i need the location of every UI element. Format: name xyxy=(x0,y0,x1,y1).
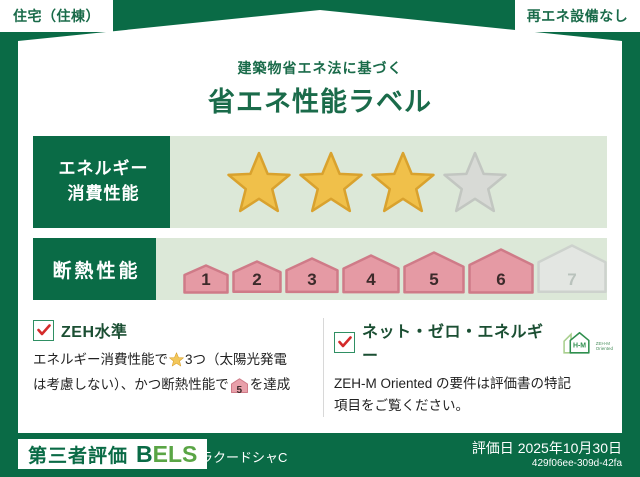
insulation-performance-key: 断熱性能 xyxy=(37,238,156,300)
bels-jp-label: 第三者評価 xyxy=(28,441,128,468)
nzeb-text-line1: ZEH-M Oriented の要件は評価書の特記 xyxy=(334,376,571,391)
bels-badge: 第三者評価 BELS xyxy=(18,439,207,469)
zeh-heading: ZEH水準 xyxy=(33,318,323,342)
document-id: 429f06ee-309d-42fa xyxy=(532,458,622,469)
tag-renewable-energy: 再エネ設備なし xyxy=(515,0,640,32)
star-icon xyxy=(298,151,364,214)
label-title: 省エネ性能ラベル xyxy=(0,80,640,119)
insulation-level-badge: 4 xyxy=(342,254,400,294)
zeh-text-part1: エネルギー消費性能で xyxy=(33,352,168,367)
insulation-level-badge: 5 xyxy=(403,251,465,294)
insulation-level-badge: 2 xyxy=(232,260,282,293)
nzeb-heading: ネット・ゼロ・エネルギー H-M ZEH-M Oriented xyxy=(334,318,613,366)
nzeb-text-line2: 項目をご覧ください。 xyxy=(334,398,469,413)
energy-performance-key-line1: エネルギー xyxy=(59,157,149,182)
checkmark-icon xyxy=(334,332,355,353)
insulation-badge-inline-label: 5 xyxy=(231,383,248,399)
label-subtitle: 建築物省エネ法に基づく xyxy=(0,58,640,78)
nzeb-title: ネット・ゼロ・エネルギー xyxy=(362,318,548,366)
bels-logo-b: B xyxy=(136,441,153,468)
svg-text:H-M: H-M xyxy=(573,342,586,349)
nzeb-description: ZEH-M Oriented の要件は評価書の特記 項目をご覧ください。 xyxy=(334,373,613,417)
insulation-level-badge: 3 xyxy=(285,257,339,293)
tag-building-type-label: 住宅（住棟） xyxy=(13,6,100,26)
insulation-level-label: 4 xyxy=(342,270,400,290)
checkmark-icon xyxy=(33,320,54,341)
insulation-level-scale: 1234567 xyxy=(156,244,607,293)
insulation-level-label: 2 xyxy=(232,270,282,290)
zeh-title: ZEH水準 xyxy=(61,318,128,342)
insulation-performance-row: 断熱性能 1234567 xyxy=(33,238,607,300)
insulation-level-badge: 6 xyxy=(468,248,534,294)
zeh-text-part3: を達成 xyxy=(250,377,291,392)
insulation-level-label: 7 xyxy=(537,270,607,290)
energy-performance-label: 住宅（住棟） 再エネ設備なし 建築物省エネ法に基づく 省エネ性能ラベル エネルギ… xyxy=(0,0,640,477)
zeh-text-star-count: 3つ（太陽光発電 xyxy=(185,352,287,367)
star-icon xyxy=(226,151,292,214)
insulation-level-label: 1 xyxy=(183,270,229,290)
energy-performance-value xyxy=(170,136,607,228)
insulation-performance-key-label: 断熱性能 xyxy=(52,256,140,283)
nzeb-criteria-block: ネット・ゼロ・エネルギー H-M ZEH-M Oriented ZEH-M Or… xyxy=(323,318,613,417)
star-rating xyxy=(170,151,508,214)
insulation-performance-value: 1234567 xyxy=(156,238,607,300)
energy-performance-row: エネルギー 消費性能 xyxy=(33,136,607,228)
bels-logo-els: ELS xyxy=(153,441,198,468)
star-icon xyxy=(442,151,508,214)
insulation-level-label: 5 xyxy=(403,270,465,290)
star-icon xyxy=(370,151,436,214)
zeh-m-oriented-logo: H-M ZEH-M Oriented xyxy=(561,329,613,355)
insulation-level-label: 3 xyxy=(285,270,339,290)
tag-renewable-energy-label: 再エネ設備なし xyxy=(527,6,629,26)
criteria-columns: ZEH水準 エネルギー消費性能で3つ（太陽光発電 は考慮しない）、かつ断熱性能で… xyxy=(33,318,613,417)
insulation-badge-inline: 5 xyxy=(231,378,248,400)
zeh-criteria-block: ZEH水準 エネルギー消費性能で3つ（太陽光発電 は考慮しない）、かつ断熱性能で… xyxy=(33,318,323,417)
star-icon xyxy=(169,355,184,370)
label-footer: 第三者評価 BELS ラクードシャC 評価日 2025年10月30日 429f0… xyxy=(0,433,640,477)
zeh-description: エネルギー消費性能で3つ（太陽光発電 は考慮しない）、かつ断熱性能で5を達成 xyxy=(33,349,323,400)
insulation-level-badge: 7 xyxy=(537,244,607,293)
zeh-text-part2: は考慮しない）、かつ断熱性能で xyxy=(33,377,229,392)
evaluation-date: 評価日 2025年10月30日 xyxy=(472,438,622,458)
zeh-logo-caption-line2: Oriented xyxy=(596,346,613,351)
building-name: ラクードシャC xyxy=(200,447,287,466)
insulation-level-label: 6 xyxy=(468,270,534,290)
energy-performance-key: エネルギー 消費性能 xyxy=(37,136,170,228)
energy-performance-key-line2: 消費性能 xyxy=(68,182,140,207)
tag-building-type: 住宅（住棟） xyxy=(0,0,113,32)
zeh-logo-caption-line1: ZEH-M xyxy=(596,341,610,346)
insulation-level-badge: 1 xyxy=(183,264,229,294)
